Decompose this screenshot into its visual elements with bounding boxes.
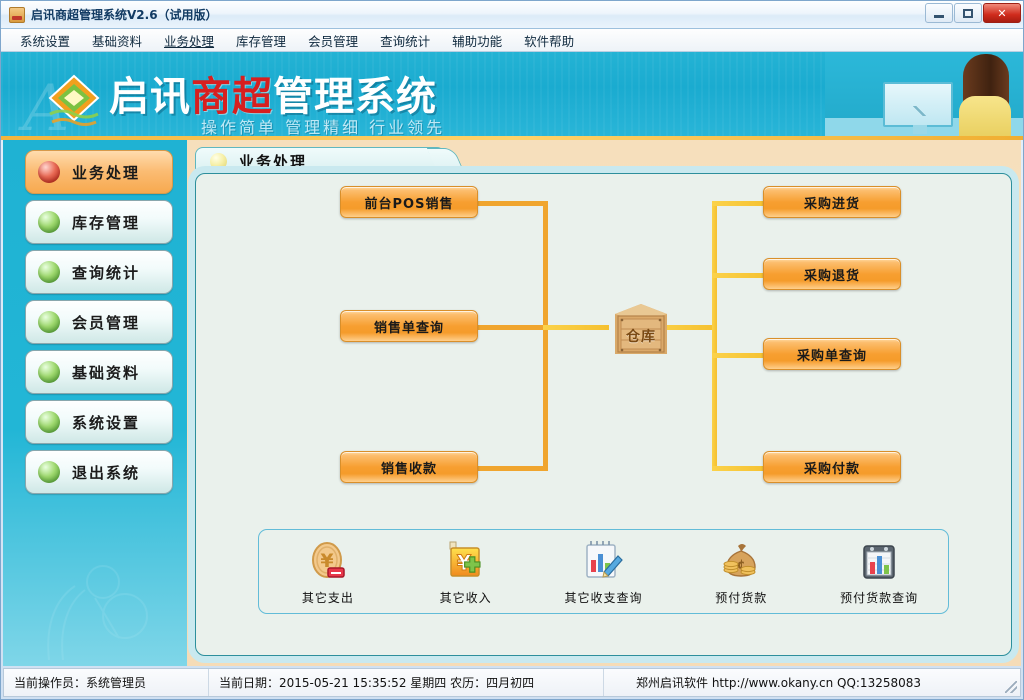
person-body xyxy=(959,96,1011,140)
minimize-icon xyxy=(934,15,944,18)
sidebar-watermark xyxy=(29,542,159,662)
menu-item-aux-functions[interactable]: 辅助功能 xyxy=(441,29,513,52)
banner-subtitle: 操作简单 管理精细 行业领先 xyxy=(201,114,445,138)
menu-item-system-settings[interactable]: 系统设置 xyxy=(9,29,81,52)
sidebar-item-basic-data[interactable]: 基础资料 xyxy=(25,350,173,394)
green-bulb-icon xyxy=(38,411,60,433)
content-area: 业务处理 前台POS销售 销售单查询 销售 xyxy=(187,140,1021,666)
sidebar-item-exit[interactable]: 退出系统 xyxy=(25,450,173,494)
connector-left-mid-h xyxy=(478,325,548,330)
banner-illustration xyxy=(825,52,1024,140)
sidebar-item-system-settings[interactable]: 系统设置 xyxy=(25,400,173,444)
status-operator-label: 当前操作员： xyxy=(14,674,86,691)
green-bulb-icon xyxy=(38,311,60,333)
status-operator-value: 系统管理员 xyxy=(86,674,146,691)
wooden-crate-icon: 仓库 xyxy=(609,296,673,360)
coin-minus-icon: ¥ xyxy=(273,538,383,584)
sidebar-item-business-processing[interactable]: 业务处理 xyxy=(25,150,173,194)
connector-right-v xyxy=(712,201,717,471)
sidebar-item-label: 系统设置 xyxy=(72,412,140,433)
crate-label: 仓库 xyxy=(609,326,673,346)
quick-action-label: 其它支出 xyxy=(273,589,383,606)
status-vendor: 郑州启讯软件 http://www.okany.cn QQ:13258083 xyxy=(604,669,1020,696)
minimize-button[interactable] xyxy=(925,3,953,23)
menu-item-query-stats[interactable]: 查询统计 xyxy=(369,29,441,52)
tab-label: 业务处理 xyxy=(239,151,307,172)
quick-action-prepaid-payment[interactable]: ¢ 预付货款 xyxy=(686,538,796,606)
sidebar-item-label: 退出系统 xyxy=(72,462,140,483)
connector-left-bottom-h xyxy=(478,466,548,471)
flow-button-purchase-return[interactable]: 采购退货 xyxy=(763,258,901,290)
window-title: 启讯商超管理系统V2.6（试用版） xyxy=(31,6,218,23)
quick-action-income-expense-query[interactable]: 其它收支查询 xyxy=(548,538,658,606)
window-controls: ✕ xyxy=(925,3,1021,23)
menu-bar: 系统设置 基础资料 业务处理 库存管理 会员管理 查询统计 辅助功能 软件帮助 xyxy=(1,29,1024,52)
application-window: 启讯商超管理系统V2.6（试用版） ✕ 系统设置 基础资料 业务处理 库存管理 … xyxy=(0,0,1024,700)
yellow-bulb-icon xyxy=(210,153,227,170)
money-bag-icon: ¢ xyxy=(686,538,796,584)
red-bulb-icon xyxy=(38,161,60,183)
sidebar-item-members[interactable]: 会员管理 xyxy=(25,300,173,344)
quick-action-label: 预付货款查询 xyxy=(824,589,934,606)
flow-button-sales-order-query[interactable]: 销售单查询 xyxy=(340,310,478,342)
menu-item-inventory[interactable]: 库存管理 xyxy=(225,29,297,52)
notepad-chart-pencil-icon xyxy=(548,538,658,584)
green-bulb-icon xyxy=(38,361,60,383)
green-bulb-icon xyxy=(38,261,60,283)
sidebar-item-label: 基础资料 xyxy=(72,362,140,383)
banner: A 启讯商超管理系统 操作简单 管理精细 行业领先 xyxy=(1,52,1024,140)
diamond-logo-icon xyxy=(46,72,102,128)
flow-button-purchase-order-query[interactable]: 采购单查询 xyxy=(763,338,901,370)
green-bulb-icon xyxy=(38,461,60,483)
tab-strip: 业务处理 xyxy=(195,147,460,174)
quick-action-label: 其它收入 xyxy=(411,589,521,606)
flow-button-purchase-payment[interactable]: 采购付款 xyxy=(763,451,901,483)
sidebar-item-label: 会员管理 xyxy=(72,312,140,333)
flow-button-sales-payment[interactable]: 销售收款 xyxy=(340,451,478,483)
quick-action-other-expense[interactable]: ¥ 其它支出 xyxy=(273,538,383,606)
flow-button-purchase-in[interactable]: 采购进货 xyxy=(763,186,901,218)
workflow-diagram: 前台POS销售 销售单查询 销售收款 采购进货 采购退货 采购单查询 采购付款 xyxy=(196,174,1011,494)
sidebar-item-query-stats[interactable]: 查询统计 xyxy=(25,250,173,294)
title-bar: 启讯商超管理系统V2.6（试用版） ✕ xyxy=(1,1,1024,29)
quick-action-bar: ¥ 其它支出 xyxy=(258,529,949,614)
banner-title-part1: 启讯 xyxy=(109,74,191,120)
flow-button-pos-sales[interactable]: 前台POS销售 xyxy=(340,186,478,218)
sidebar-item-label: 业务处理 xyxy=(72,162,140,183)
quick-action-label: 预付货款 xyxy=(686,589,796,606)
monitor-chart-line xyxy=(893,106,945,116)
connector-left-v xyxy=(543,201,548,471)
maximize-button[interactable] xyxy=(954,3,982,23)
coin-plus-icon: ¥ xyxy=(411,538,521,584)
bar-chart-board-icon xyxy=(824,538,934,584)
monitor-icon xyxy=(883,82,953,127)
quick-action-other-income[interactable]: ¥ 其它收入 xyxy=(411,538,521,606)
connector-left-to-center xyxy=(543,325,609,330)
connector-left-top-h xyxy=(478,201,548,206)
menu-item-basic-data[interactable]: 基础资料 xyxy=(81,29,153,52)
status-bar: 当前操作员： 系统管理员 当前日期：2015-05-21 15:35:52 星期… xyxy=(3,668,1021,697)
resize-grip[interactable] xyxy=(1005,681,1017,693)
sidebar-menu: 业务处理 库存管理 查询统计 会员管理 基础资料 系统设置 xyxy=(3,140,187,494)
sidebar-item-inventory[interactable]: 库存管理 xyxy=(25,200,173,244)
maximize-icon xyxy=(963,9,973,18)
quick-action-label: 其它收支查询 xyxy=(548,589,658,606)
menu-item-help[interactable]: 软件帮助 xyxy=(513,29,585,52)
sidebar-item-label: 查询统计 xyxy=(72,262,140,283)
close-button[interactable]: ✕ xyxy=(983,3,1021,23)
sidebar-item-label: 库存管理 xyxy=(72,212,140,233)
business-panel: 前台POS销售 销售单查询 销售收款 采购进货 采购退货 采购单查询 采购付款 xyxy=(195,173,1012,656)
tab-business-processing[interactable]: 业务处理 xyxy=(195,147,445,174)
status-date: 当前日期：2015-05-21 15:35:52 星期四 农历：四月初四 xyxy=(209,669,604,696)
green-bulb-icon xyxy=(38,211,60,233)
quick-action-prepaid-payment-query[interactable]: 预付货款查询 xyxy=(824,538,934,606)
app-icon xyxy=(9,7,25,23)
menu-item-business-processing[interactable]: 业务处理 xyxy=(153,29,225,52)
status-operator: 当前操作员： 系统管理员 xyxy=(4,669,209,696)
menu-item-members[interactable]: 会员管理 xyxy=(297,29,369,52)
sidebar: 业务处理 库存管理 查询统计 会员管理 基础资料 系统设置 xyxy=(3,140,187,666)
